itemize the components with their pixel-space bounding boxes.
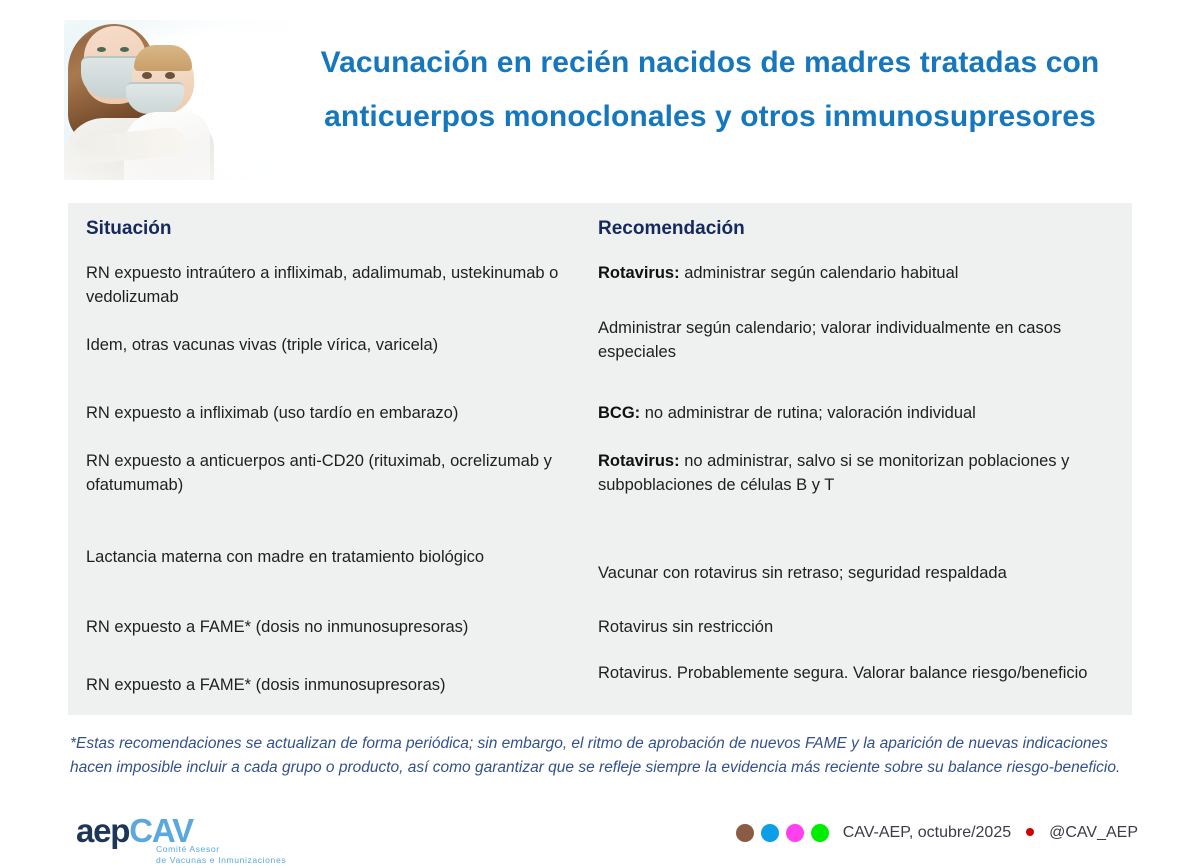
recomendacion-keyword: Rotavirus: — [598, 452, 680, 470]
cell-recomendacion: Rotavirus: no administrar, salvo si se m… — [598, 449, 1132, 497]
table-row: RN expuesto a FAME* (dosis inmunosupreso… — [68, 673, 1132, 697]
table-row: RN expuesto a FAME* (dosis no inmunosupr… — [68, 615, 1132, 639]
logo-subtitle: Comité Asesor de Vacunas e Inmunizacione… — [156, 844, 286, 865]
recomendacion-text: administrar según calendario habitual — [680, 264, 959, 282]
column-header-recomendacion: Recomendación — [598, 217, 1132, 241]
cell-recomendacion: Rotavirus sin restricción — [598, 615, 1132, 639]
cell-recomendacion: Rotavirus: administrar según calendario … — [598, 261, 1132, 309]
table-row: RN expuesto a anticuerpos anti-CD20 (rit… — [68, 449, 1132, 497]
separator-dot-icon — [1026, 828, 1034, 836]
logo-subtitle-line-1: Comité Asesor — [156, 844, 286, 855]
recomendacion-text: Rotavirus sin restricción — [598, 618, 773, 636]
column-header-situacion: Situación — [68, 217, 598, 241]
cell-situacion: Idem, otras vacunas vivas (triple vírica… — [68, 333, 598, 364]
logo-aep-text: aep — [76, 812, 129, 849]
page-title: Vacunación en recién nacidos de madres t… — [300, 36, 1120, 144]
logo-subtitle-line-2: de Vacunas e Inmunizaciones — [156, 855, 286, 866]
slide-root: Vacunación en recién nacidos de madres t… — [0, 0, 1200, 868]
cell-situacion: RN expuesto a anticuerpos anti-CD20 (rit… — [68, 449, 598, 497]
recomendacion-keyword: Rotavirus: — [598, 264, 680, 282]
recomendacion-text: Rotavirus. Probablemente segura. Valorar… — [598, 664, 1087, 682]
cell-situacion: RN expuesto a FAME* (dosis no inmunosupr… — [68, 615, 598, 639]
logo-wordmark: aepCAV — [76, 814, 316, 848]
dot-brown-icon — [736, 824, 754, 842]
cell-recomendacion: Vacunar con rotavirus sin retraso; segur… — [598, 561, 1132, 585]
cell-recomendacion: BCG: no administrar de rutina; valoració… — [598, 401, 1132, 425]
slide-header: Vacunación en recién nacidos de madres t… — [0, 0, 1200, 200]
social-handle[interactable]: @CAV_AEP — [1049, 824, 1138, 842]
credit-text: CAV-AEP, octubre/2025 — [843, 824, 1011, 842]
aepcav-logo[interactable]: aepCAV Comité Asesor de Vacunas e Inmuni… — [76, 814, 316, 864]
table-row: Lactancia materna con madre en tratamien… — [68, 545, 1132, 585]
table-row: RN expuesto a infliximab (uso tardío en … — [68, 401, 1132, 425]
table-header-row: Situación Recomendación — [68, 217, 1132, 241]
table-row: Idem, otras vacunas vivas (triple vírica… — [68, 333, 1132, 364]
recomendacion-text: Vacunar con rotavirus sin retraso; segur… — [598, 564, 1007, 582]
cell-situacion: RN expuesto a infliximab (uso tardío en … — [68, 401, 598, 425]
recomendacion-text: Administrar según calendario; valorar in… — [598, 319, 1061, 361]
mother-and-baby-photo — [64, 20, 292, 180]
dot-blue-icon — [761, 824, 779, 842]
recomendacion-text: no administrar de rutina; valoración ind… — [640, 404, 976, 422]
dot-green-icon — [811, 824, 829, 842]
footer-credits: CAV-AEP, octubre/2025 @CAV_AEP — [736, 824, 1138, 842]
dot-magenta-icon — [786, 824, 804, 842]
footnote-text: *Estas recomendaciones se actualizan de … — [70, 732, 1135, 780]
cell-recomendacion: Rotavirus. Probablemente segura. Valorar… — [598, 661, 1132, 697]
table-row: RN expuesto intraútero a infliximab, ada… — [68, 261, 1132, 309]
cell-situacion: Lactancia materna con madre en tratamien… — [68, 545, 598, 585]
photo-fade-overlay — [64, 20, 292, 180]
cell-recomendacion: Administrar según calendario; valorar in… — [598, 316, 1132, 364]
cell-situacion: RN expuesto a FAME* (dosis inmunosupreso… — [68, 673, 598, 697]
recommendations-table: Situación Recomendación RN expuesto intr… — [68, 203, 1132, 715]
color-dots-group — [736, 824, 829, 842]
recomendacion-keyword: BCG: — [598, 404, 640, 422]
slide-footer: aepCAV Comité Asesor de Vacunas e Inmuni… — [0, 806, 1200, 868]
cell-situacion: RN expuesto intraútero a infliximab, ada… — [68, 261, 598, 309]
